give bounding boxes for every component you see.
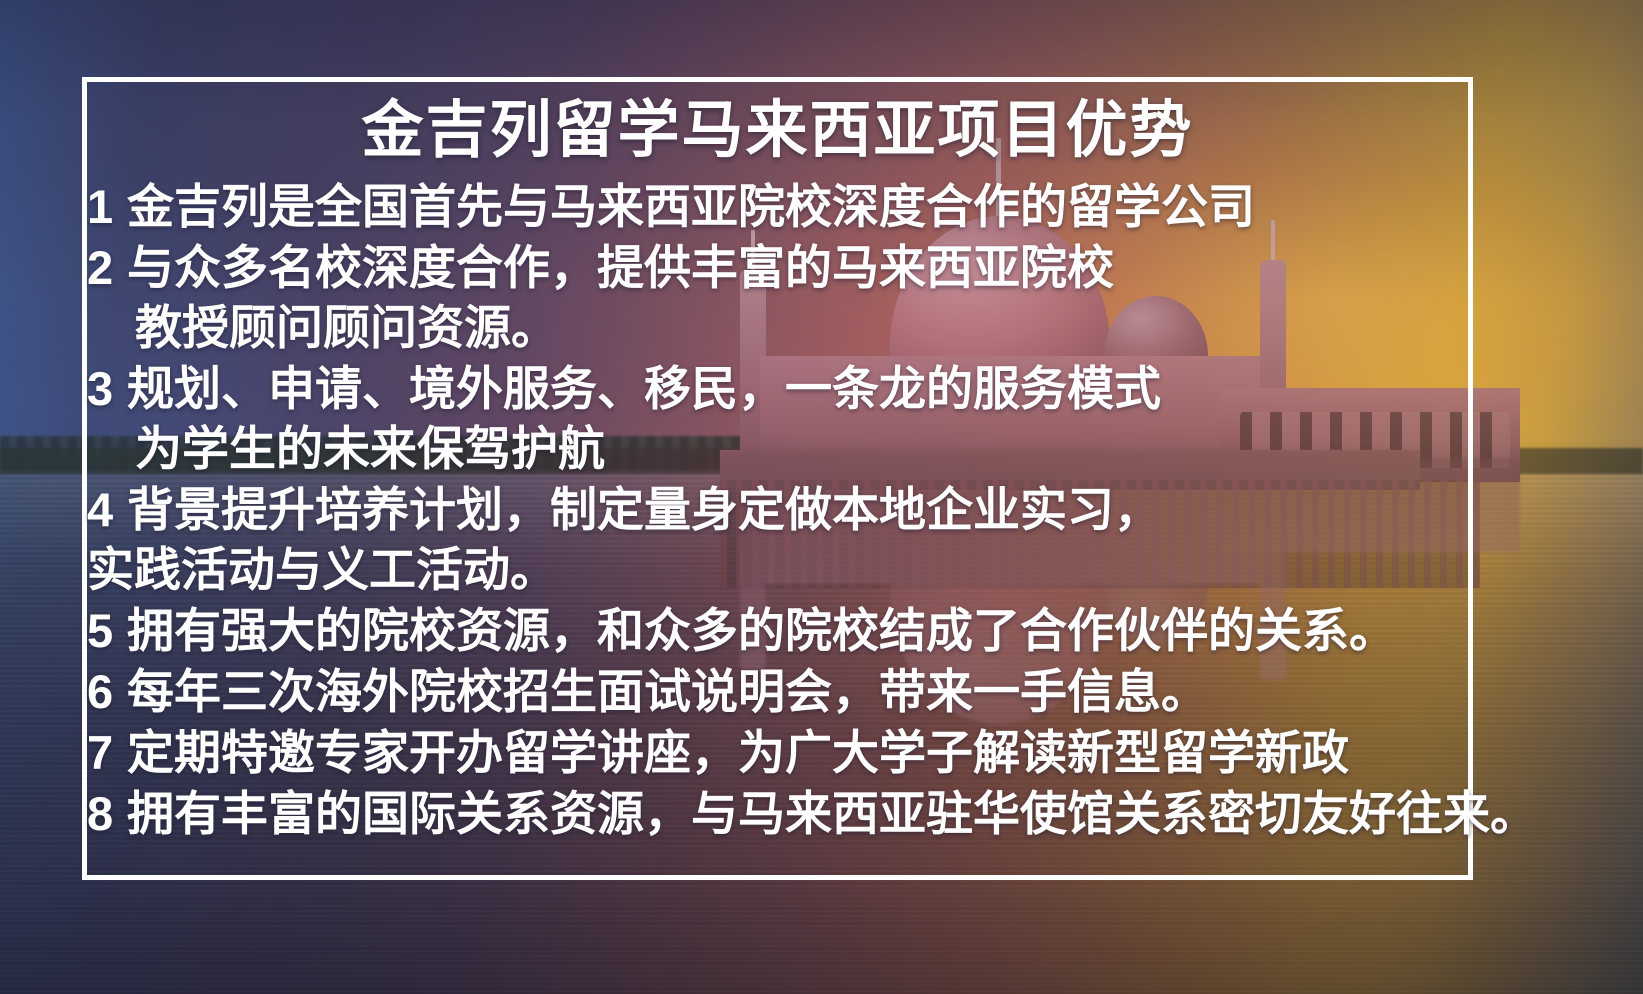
advantage-continuation-line: 为学生的未来保驾护航 <box>87 420 1473 480</box>
advantage-text: 每年三次海外院校招生面试说明会，带来一手信息。 <box>127 665 1208 720</box>
advantage-list: 1金吉列是全国首先与马来西亚院校深度合作的留学公司2与众多名校深度合作，提供丰富… <box>87 177 1473 845</box>
advantage-item: 3规划、申请、境外服务、移民，一条龙的服务模式为学生的未来保驾护航 <box>87 359 1473 480</box>
advantage-text: 金吉列是全国首先与马来西亚院校深度合作的留学公司 <box>127 180 1255 235</box>
advantage-text: 与众多名校深度合作，提供丰富的马来西亚院校 <box>127 241 1114 296</box>
advantage-line: 1金吉列是全国首先与马来西亚院校深度合作的留学公司 <box>87 177 1473 238</box>
advantage-number: 2 <box>87 238 127 298</box>
poster-canvas: 金吉列留学马来西亚项目优势 1金吉列是全国首先与马来西亚院校深度合作的留学公司2… <box>0 0 1643 994</box>
advantage-text: 背景提升培养计划，制定量身定做本地企业实习， <box>127 483 1161 538</box>
advantage-text: 拥有丰富的国际关系资源，与马来西亚驻华使馆关系密切友好往来。 <box>127 787 1537 842</box>
advantage-text: 定期特邀专家开办留学讲座，为广大学子解读新型留学新政 <box>127 726 1349 781</box>
advantage-line: 5拥有强大的院校资源，和众多的院校结成了合作伙伴的关系。 <box>87 601 1473 662</box>
advantage-item: 6每年三次海外院校招生面试说明会，带来一手信息。 <box>87 662 1473 723</box>
advantage-line: 7定期特邀专家开办留学讲座，为广大学子解读新型留学新政 <box>87 723 1473 784</box>
advantage-line: 3规划、申请、境外服务、移民，一条龙的服务模式 <box>87 359 1473 420</box>
advantage-number: 4 <box>87 480 127 540</box>
advantage-line: 2与众多名校深度合作，提供丰富的马来西亚院校 <box>87 238 1473 299</box>
advantage-number: 7 <box>87 723 127 783</box>
advantage-continuation-line: 教授顾问顾问资源。 <box>87 299 1473 359</box>
advantage-text: 为学生的未来保驾护航 <box>135 422 605 477</box>
advantage-number: 8 <box>87 784 127 844</box>
advantage-line: 8拥有丰富的国际关系资源，与马来西亚驻华使馆关系密切友好往来。 <box>87 784 1473 845</box>
advantage-text: 教授顾问顾问资源。 <box>135 301 558 356</box>
advantage-text: 规划、申请、境外服务、移民，一条龙的服务模式 <box>127 362 1161 417</box>
advantage-item: 2与众多名校深度合作，提供丰富的马来西亚院校教授顾问顾问资源。 <box>87 238 1473 359</box>
advantage-text: 拥有强大的院校资源，和众多的院校结成了合作伙伴的关系。 <box>127 604 1396 659</box>
advantage-line: 6每年三次海外院校招生面试说明会，带来一手信息。 <box>87 662 1473 723</box>
advantage-number: 5 <box>87 601 127 661</box>
advantage-continuation-line: 实践活动与义工活动。 <box>87 541 1473 601</box>
poster-content: 金吉列留学马来西亚项目优势 1金吉列是全国首先与马来西亚院校深度合作的留学公司2… <box>82 77 1473 880</box>
advantage-item: 5拥有强大的院校资源，和众多的院校结成了合作伙伴的关系。 <box>87 601 1473 662</box>
advantage-number: 1 <box>87 177 127 237</box>
advantage-line: 4背景提升培养计划，制定量身定做本地企业实习， <box>87 480 1473 541</box>
advantage-text: 实践活动与义工活动。 <box>87 543 557 598</box>
advantage-item: 8拥有丰富的国际关系资源，与马来西亚驻华使馆关系密切友好往来。 <box>87 784 1473 845</box>
page-title: 金吉列留学马来西亚项目优势 <box>82 99 1473 161</box>
advantage-item: 4背景提升培养计划，制定量身定做本地企业实习，实践活动与义工活动。 <box>87 480 1473 601</box>
advantage-number: 3 <box>87 359 127 419</box>
advantage-item: 7定期特邀专家开办留学讲座，为广大学子解读新型留学新政 <box>87 723 1473 784</box>
advantage-item: 1金吉列是全国首先与马来西亚院校深度合作的留学公司 <box>87 177 1473 238</box>
advantage-number: 6 <box>87 662 127 722</box>
